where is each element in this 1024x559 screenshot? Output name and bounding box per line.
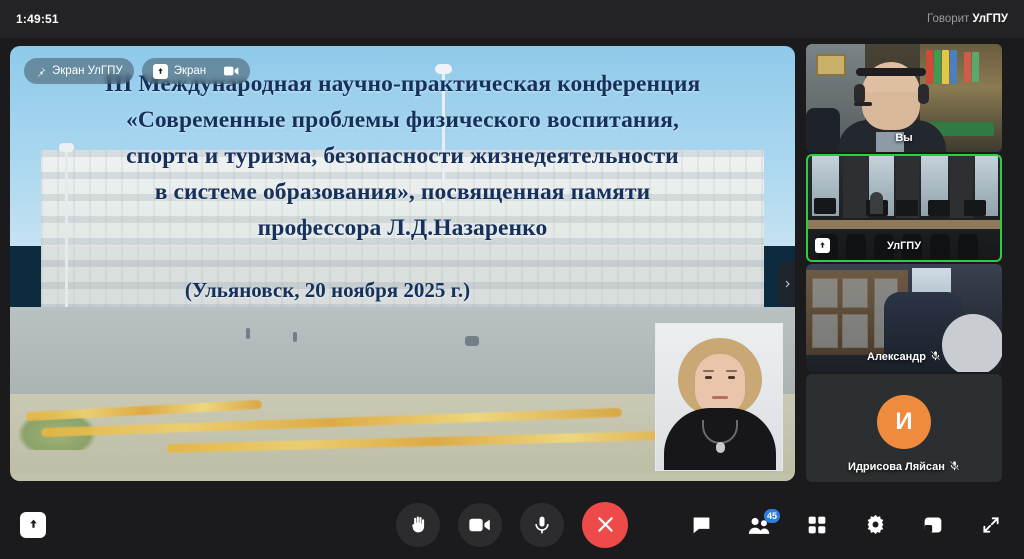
avatar: И bbox=[877, 395, 931, 449]
participants-button[interactable]: 45 bbox=[744, 510, 774, 540]
toolbar-right-group: 45 bbox=[686, 510, 1006, 540]
microphone-muted-icon bbox=[949, 460, 960, 474]
slide-figure bbox=[246, 328, 250, 339]
portrait-eye bbox=[728, 376, 735, 379]
thumb-desk bbox=[808, 220, 1000, 229]
thumb-person bbox=[870, 192, 883, 214]
thumb-book bbox=[972, 52, 979, 82]
thumb-chair bbox=[806, 108, 840, 152]
fullscreen-button[interactable] bbox=[976, 510, 1006, 540]
portrait-brow bbox=[703, 370, 714, 372]
settings-gear-button[interactable] bbox=[860, 510, 890, 540]
chat-button[interactable] bbox=[686, 510, 716, 540]
screen-share-badge[interactable]: Экран bbox=[142, 58, 250, 84]
thumb-cabinet-glass bbox=[842, 314, 868, 348]
thumbnail-participant-you[interactable]: Вы bbox=[806, 44, 1002, 152]
thumb-monitor bbox=[896, 200, 918, 216]
thumbnail-name-text: УлГПУ bbox=[887, 240, 921, 252]
pin-icon bbox=[35, 66, 46, 77]
portrait-eye bbox=[705, 376, 712, 379]
raise-hand-button[interactable] bbox=[396, 503, 440, 547]
thumb-book bbox=[942, 50, 949, 84]
portrait-pendant bbox=[716, 442, 725, 453]
slide-lawn bbox=[10, 474, 795, 481]
grid-view-button[interactable] bbox=[802, 510, 832, 540]
thumbnail-name-label: Вы bbox=[806, 132, 1002, 144]
thumb-earcup bbox=[854, 84, 865, 104]
thumb-monitor bbox=[814, 198, 836, 214]
slide-date-line: (Ульяновск, 20 ноября 2025 г.) bbox=[10, 278, 795, 303]
slide-portrait-photo bbox=[655, 323, 783, 471]
thumbnail-participant-idrisova[interactable]: И Идрисова Ляйсан bbox=[806, 374, 1002, 482]
hangup-button[interactable] bbox=[582, 502, 628, 548]
thumb-monitor bbox=[928, 200, 950, 216]
slide-flower-row bbox=[26, 400, 262, 421]
thumbnail-name-text: Александр bbox=[867, 351, 926, 363]
thumb-boom-mic bbox=[854, 102, 872, 106]
avatar-initial: И bbox=[895, 408, 912, 436]
thumb-cabinet-glass bbox=[812, 314, 838, 348]
thumb-cabinet-glass bbox=[842, 278, 868, 308]
thumb-monitor bbox=[964, 200, 986, 216]
thumbnail-name-label: Идрисова Ляйсан bbox=[806, 460, 1002, 474]
thumb-person-scalp bbox=[864, 62, 918, 92]
thumbnail-name-text: Идрисова Ляйсан bbox=[848, 461, 945, 473]
thumbnail-name-label: УлГПУ bbox=[808, 240, 1000, 252]
toolbar-left-group bbox=[20, 512, 46, 538]
portrait-face bbox=[695, 354, 745, 416]
slide-figure bbox=[465, 336, 479, 346]
thumbnail-participant-aleksandr[interactable]: Александр bbox=[806, 264, 1002, 372]
layout-pip-button[interactable] bbox=[918, 510, 948, 540]
slide-figure bbox=[293, 332, 297, 342]
thumb-book bbox=[926, 50, 933, 84]
thumb-earcup bbox=[918, 84, 929, 104]
slide-title-line-5: профессора Л.Д.Назаренко bbox=[26, 210, 779, 246]
pinned-screen-label: Экран УлГПУ bbox=[52, 65, 123, 77]
microphone-muted-icon bbox=[930, 350, 941, 364]
thumb-curtain bbox=[843, 156, 868, 218]
participant-thumbnail-list[interactable]: Вы bbox=[806, 44, 1006, 484]
thumbnail-participant-ulgpu[interactable]: УлГПУ bbox=[806, 154, 1002, 262]
slide-title-block: III Международная научно-практическая ко… bbox=[10, 66, 795, 246]
camera-button[interactable] bbox=[458, 503, 502, 547]
thumb-cabinet-glass bbox=[812, 278, 838, 308]
call-timer: 1:49:51 bbox=[16, 12, 59, 26]
microphone-button[interactable] bbox=[520, 503, 564, 547]
speaking-prefix: Говорит bbox=[927, 13, 969, 25]
slide-flower-row bbox=[167, 430, 701, 453]
active-speaker-indicator: ГоворитУлГПУ bbox=[927, 13, 1008, 25]
slide-title-line-3: спорта и туризма, безопасности жизнедеят… bbox=[26, 138, 779, 174]
share-screen-icon bbox=[153, 64, 168, 79]
main-video-stage[interactable]: III Международная научно-практическая ко… bbox=[10, 46, 795, 481]
stage-badge-row: Экран УлГПУ Экран bbox=[24, 58, 250, 84]
thumbnail-name-label: Александр bbox=[806, 350, 1002, 364]
slide-title-line-2: «Современные проблемы физического воспит… bbox=[26, 102, 779, 138]
thumb-book bbox=[964, 52, 971, 82]
portrait-brow bbox=[726, 370, 737, 372]
collapse-sidebar-chevron-right-icon[interactable] bbox=[778, 261, 795, 307]
camera-icon bbox=[224, 65, 239, 77]
thumb-picture-frame bbox=[816, 54, 846, 76]
call-toolbar: 45 bbox=[0, 490, 1024, 559]
thumbnail-name-text: Вы bbox=[895, 132, 912, 144]
top-bar: 1:49:51 ГоворитУлГПУ bbox=[0, 0, 1024, 38]
toolbar-center-group bbox=[396, 502, 628, 548]
speaking-name: УлГПУ bbox=[972, 13, 1008, 25]
thumb-book bbox=[950, 50, 957, 84]
video-conference-window: 1:49:51 ГоворитУлГПУ bbox=[0, 0, 1024, 559]
pinned-screen-badge[interactable]: Экран УлГПУ bbox=[24, 58, 134, 84]
share-screen-button[interactable] bbox=[20, 512, 46, 538]
portrait-mouth bbox=[712, 396, 728, 399]
participants-count-badge: 45 bbox=[764, 509, 780, 523]
thumb-book bbox=[934, 50, 941, 84]
headset-icon bbox=[856, 68, 926, 76]
screen-share-label: Экран bbox=[174, 65, 206, 77]
slide-title-line-4: в системе образования», посвященная памя… bbox=[26, 174, 779, 210]
